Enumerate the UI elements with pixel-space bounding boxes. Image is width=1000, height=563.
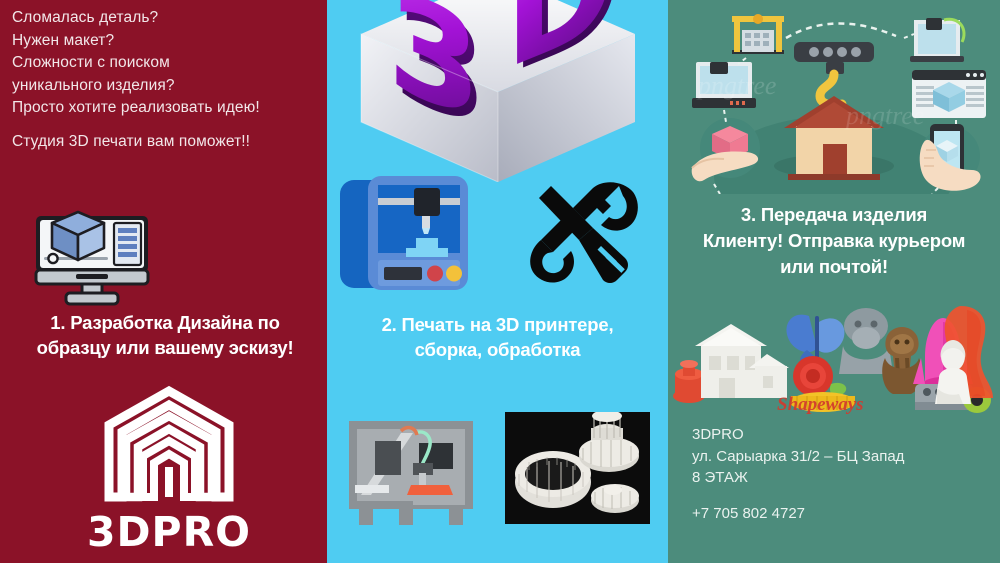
- step-3-caption: 3. Передача изделия Клиенту! Отправка ку…: [668, 202, 1000, 280]
- step-2-caption: 2. Печать на 3D принтере, сборка, обрабо…: [329, 312, 666, 362]
- step-3-line-3: или почтой!: [668, 254, 1000, 280]
- 3d-printer-illustration: [341, 415, 481, 530]
- step-3-line-2: Клиенту! Отправка курьером: [668, 228, 1000, 254]
- step-1-caption: 1. Разработка Дизайна по образцу или ваш…: [6, 310, 324, 360]
- intro-line-3: Сложности с поиском: [12, 52, 322, 75]
- contact-phone[interactable]: +7 705 802 4727: [692, 503, 992, 525]
- contact-block: 3DPRO ул. Сарыарка 31/2 – БЦ Запад 8 ЭТА…: [692, 424, 992, 524]
- design-monitor-icon: [26, 194, 158, 306]
- intro-line-5: Просто хотите реализовать идею!: [12, 97, 322, 120]
- step-2-line-2: сборка, обработка: [329, 337, 666, 362]
- logo-wordmark: 3DPRO: [84, 510, 254, 554]
- 3d-cube-text-graphic: 3 3 D D: [339, 0, 657, 182]
- intro-line-4: уникального изделия?: [12, 75, 322, 98]
- hexagon-nested-logo: [84, 385, 254, 503]
- contact-spacer: [692, 489, 992, 503]
- intro-line-1: Сломалась деталь?: [12, 7, 322, 30]
- panel-delivery-step: pngtree pngtree 3. Передача изделия Клие…: [668, 0, 1000, 563]
- 3d-printing-house-illustration: pngtree pngtree: [668, 0, 1000, 194]
- panel-print-step: 3 3 D D: [327, 0, 668, 563]
- poster-root: Сломалась деталь? Нужен макет? Сложности…: [0, 0, 1000, 563]
- contact-company: 3DPRO: [692, 424, 992, 446]
- contact-address-line-2: 8 ЭТАЖ: [692, 467, 992, 489]
- intro-spacer: [12, 120, 322, 131]
- showcase-watermark: Shapeways: [777, 394, 864, 415]
- contact-address-line-1: ул. Сарыарка 31/2 – БЦ Запад: [692, 446, 992, 468]
- brand-logo: 3DPRO: [84, 385, 254, 550]
- step-1-line-1: 1. Разработка Дизайна по: [6, 310, 324, 335]
- intro-line-2: Нужен макет?: [12, 30, 322, 53]
- wrench-screwdriver-icon: [523, 182, 641, 288]
- intro-question-block: Сломалась деталь? Нужен макет? Сложности…: [12, 7, 322, 153]
- 3d-printer-icon: [340, 176, 468, 298]
- step-3-line-1: 3. Передача изделия: [668, 202, 1000, 228]
- panel-design-step: Сломалась деталь? Нужен макет? Сложности…: [0, 0, 327, 563]
- step-1-line-2: образцу или вашему эскизу!: [6, 335, 324, 360]
- printed-objects-showcase: Shapeways: [671, 298, 1000, 418]
- step-2-line-1: 2. Печать на 3D принтере,: [329, 312, 666, 337]
- printed-gears-photo: [505, 412, 650, 524]
- tagline: Студия 3D печати вам поможет!!: [12, 131, 322, 154]
